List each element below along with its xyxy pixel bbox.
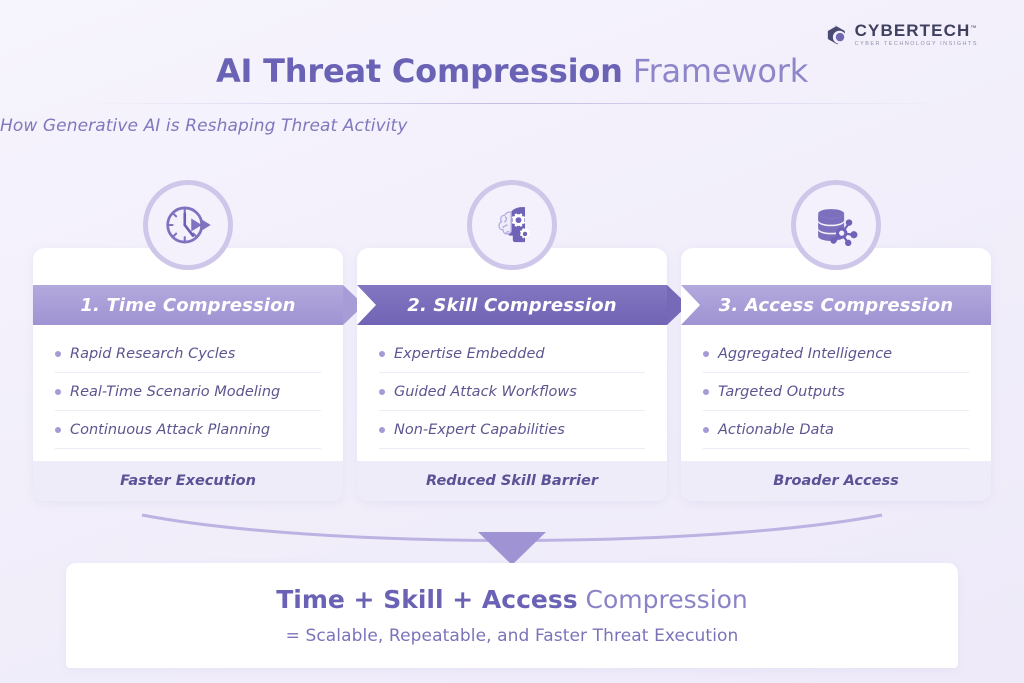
card-item-list: Rapid Research Cycles Real-Time Scenario… [33, 325, 343, 461]
page-title-light: Framework [623, 52, 808, 90]
card-item-list: Expertise Embedded Guided Attack Workflo… [357, 325, 667, 461]
list-item[interactable]: Expertise Embedded [379, 335, 645, 373]
summary-main-text: Time + Skill + Access Compression [276, 585, 748, 614]
card-skill-compression[interactable]: 2. Skill Compression Expertise Embedded … [357, 248, 667, 501]
card-footer-outcome: Faster Execution [33, 461, 343, 501]
summary-sub-text: = Scalable, Repeatable, and Faster Threa… [286, 626, 739, 646]
card-footer-outcome: Broader Access [681, 461, 991, 501]
card-item-list: Aggregated Intelligence Targeted Outputs… [681, 325, 991, 461]
header-divider [82, 103, 942, 104]
list-item-label: Guided Attack Workflows [394, 384, 577, 400]
bullet-dot-icon [55, 427, 61, 433]
list-item[interactable]: Non-Expert Capabilities [379, 411, 645, 449]
bullet-dot-icon [379, 427, 385, 433]
bullet-dot-icon [55, 389, 61, 395]
list-item[interactable]: Actionable Data [703, 411, 969, 449]
brain-gears-head-icon [467, 180, 557, 270]
clock-fast-forward-icon [143, 180, 233, 270]
list-item[interactable]: Targeted Outputs [703, 373, 969, 411]
card-band-label: 2. Skill Compression [407, 295, 616, 316]
bullet-dot-icon [379, 351, 385, 357]
summary-panel: Time + Skill + Access Compression = Scal… [66, 563, 958, 668]
page-subtitle: How Generative AI is Reshaping Threat Ac… [0, 116, 1024, 136]
page-title: AI Threat Compression Framework [0, 52, 1024, 90]
bullet-dot-icon [55, 351, 61, 357]
list-item-label: Real-Time Scenario Modeling [70, 384, 280, 400]
card-access-compression[interactable]: 3. Access Compression Aggregated Intelli… [681, 248, 991, 501]
list-item-label: Rapid Research Cycles [70, 346, 235, 362]
list-item[interactable]: Guided Attack Workflows [379, 373, 645, 411]
list-item[interactable]: Rapid Research Cycles [55, 335, 321, 373]
bullet-dot-icon [379, 389, 385, 395]
card-band-2: 2. Skill Compression [357, 285, 667, 325]
summary-main-strong: Time + Skill + Access [276, 585, 577, 614]
list-item-label: Expertise Embedded [394, 346, 545, 362]
list-item[interactable]: Real-Time Scenario Modeling [55, 373, 321, 411]
summary-main-light: Compression [578, 585, 748, 614]
card-band-1: 1. Time Compression [33, 285, 343, 325]
card-time-compression[interactable]: 1. Time Compression Rapid Research Cycle… [33, 248, 343, 501]
database-network-icon [791, 180, 881, 270]
page-title-strong: AI Threat Compression [216, 52, 623, 90]
list-item-label: Actionable Data [718, 422, 834, 438]
list-item-label: Aggregated Intelligence [718, 346, 892, 362]
bullet-dot-icon [703, 427, 709, 433]
flow-connector [140, 505, 884, 567]
list-item[interactable]: Aggregated Intelligence [703, 335, 969, 373]
list-item-label: Targeted Outputs [718, 384, 845, 400]
card-band-label: 3. Access Compression [719, 295, 953, 316]
list-item[interactable]: Continuous Attack Planning [55, 411, 321, 449]
card-band-3: 3. Access Compression [681, 285, 991, 325]
bullet-dot-icon [703, 389, 709, 395]
framework-cards: 1. Time Compression Rapid Research Cycle… [33, 248, 991, 501]
card-footer-outcome: Reduced Skill Barrier [357, 461, 667, 501]
card-band-label: 1. Time Compression [80, 295, 295, 316]
list-item-label: Continuous Attack Planning [70, 422, 270, 438]
page-header: AI Threat Compression Framework [0, 0, 1024, 90]
list-item-label: Non-Expert Capabilities [394, 422, 565, 438]
bullet-dot-icon [703, 351, 709, 357]
down-arrow-icon [478, 532, 546, 565]
